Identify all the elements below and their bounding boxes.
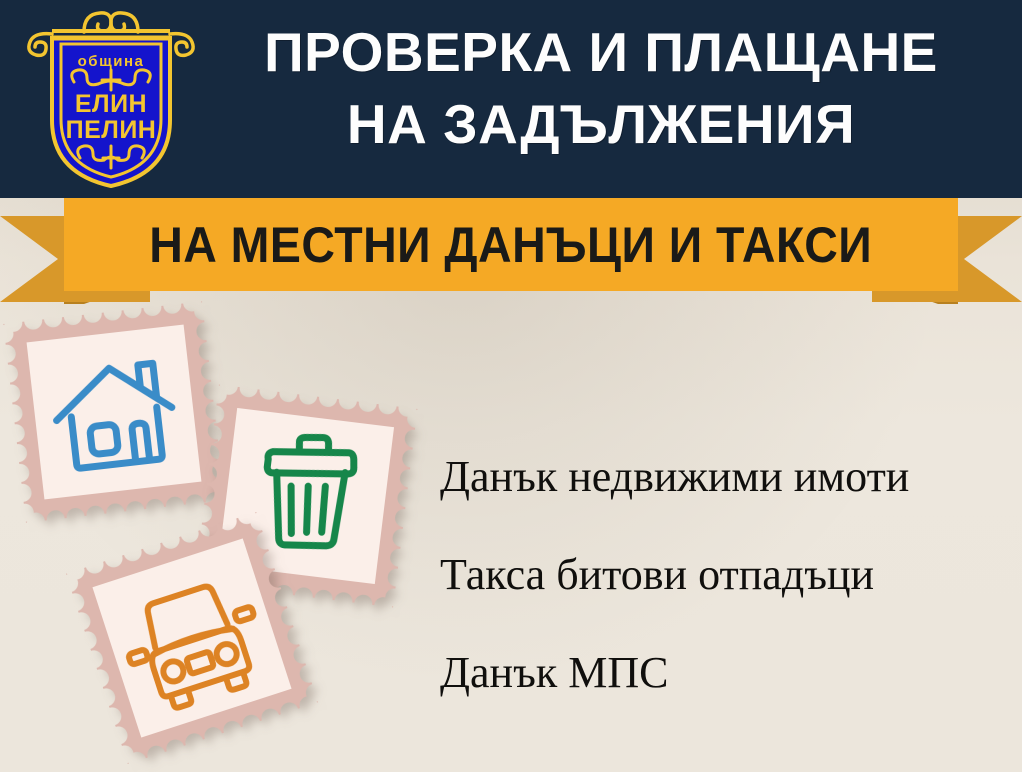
title-line-1: ПРОВЕРКА И ПЛАЩАНЕ	[190, 16, 1012, 88]
page-title: ПРОВЕРКА И ПЛАЩАНЕ НА ЗАДЪЛЖЕНИЯ	[190, 16, 1012, 160]
crest-icon: община ЕЛИН ПЕЛИН	[22, 8, 200, 190]
title-line-2: НА ЗАДЪЛЖЕНИЯ	[190, 88, 1012, 160]
crest-label-name2: ПЕЛИН	[66, 116, 157, 144]
ribbon-banner: НА МЕСТНИ ДАНЪЦИ И ТАКСИ	[0, 196, 1022, 308]
arrow-bullet-icon	[398, 564, 420, 588]
house-icon	[3, 301, 224, 522]
property-stamp	[3, 301, 224, 522]
municipality-crest: община ЕЛИН ПЕЛИН	[22, 8, 200, 190]
list-item[interactable]: Данък МПС	[398, 624, 1008, 722]
arrow-bullet-icon	[398, 662, 420, 686]
ribbon-center-panel: НА МЕСТНИ ДАНЪЦИ И ТАКСИ	[64, 198, 958, 291]
list-item-label: Данък МПС	[440, 649, 668, 697]
list-item-label: Такса битови отпадъци	[440, 551, 874, 599]
list-item[interactable]: Такса битови отпадъци	[398, 526, 1008, 624]
arrow-bullet-icon	[398, 466, 420, 490]
tax-types-list: Данък недвижими имоти Такса битови отпад…	[398, 428, 1008, 722]
poster-canvas: община ЕЛИН ПЕЛИН	[0, 0, 1022, 772]
header-bar: община ЕЛИН ПЕЛИН	[0, 0, 1022, 198]
crest-label-obshtina: община	[78, 53, 145, 70]
list-item[interactable]: Данък недвижими имоти	[398, 428, 1008, 526]
list-item-label: Данък недвижими имоти	[440, 453, 909, 501]
crest-label-name1: ЕЛИН	[75, 90, 147, 118]
ribbon-label: НА МЕСТНИ ДАНЪЦИ И ТАКСИ	[150, 216, 873, 274]
